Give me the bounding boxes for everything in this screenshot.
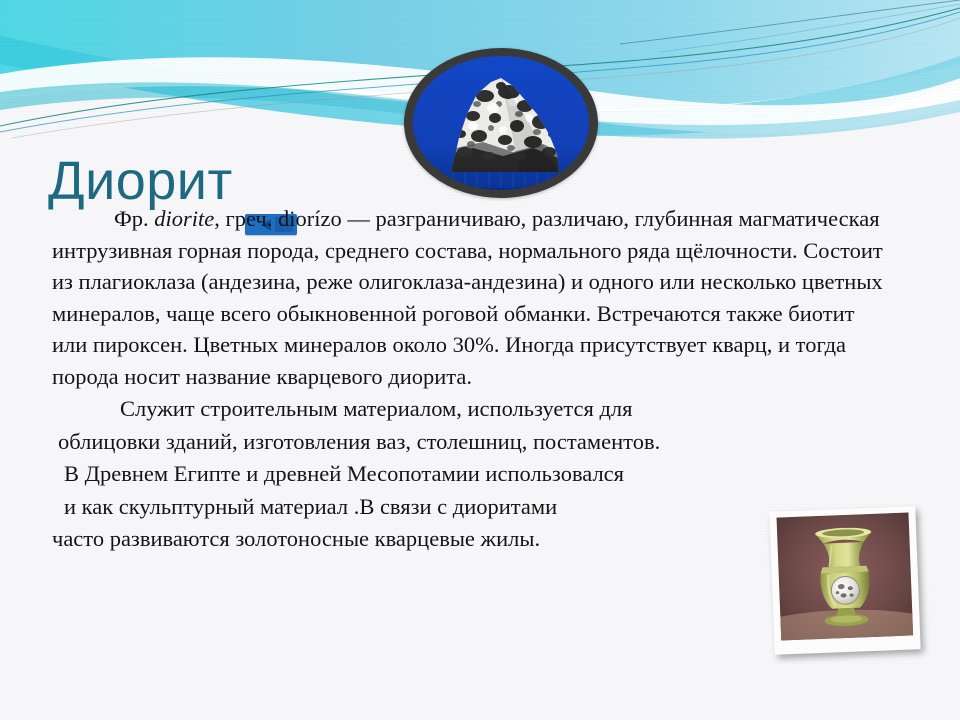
presentation-slide: Диорит Фр. diorite, греч. diorízo — разг…: [0, 0, 960, 720]
diorite-rock-photo: [404, 48, 598, 198]
paragraph-use-2: облицовки зданий, изготовления ваз, стол…: [52, 426, 803, 458]
vase-photo-inner: [777, 513, 914, 641]
origin-description: , греч. diorízo — разграничиваю, различа…: [52, 206, 883, 389]
latin-term: diorite: [154, 206, 214, 231]
paragraph-use-1: Служит строительным материалом, использу…: [52, 393, 812, 425]
paragraph-use-4: и как скульптурный материал .В связи с д…: [52, 491, 774, 523]
page-title: Диорит: [48, 154, 233, 208]
paragraph-origin: Фр. diorite, греч. diorízo — разграничив…: [52, 203, 895, 392]
origin-prefix: Фр.: [114, 206, 154, 231]
slide-body-text: Фр. diorite, греч. diorízo — разграничив…: [52, 203, 912, 555]
rock-photo-inner: [413, 56, 589, 190]
paragraph-use-3: В Древнем Египте и древней Месопотамии и…: [52, 458, 774, 490]
diorite-vase-photo: [769, 506, 920, 654]
paragraph-use-5: часто развиваются золотоносные кварцевые…: [52, 523, 812, 555]
